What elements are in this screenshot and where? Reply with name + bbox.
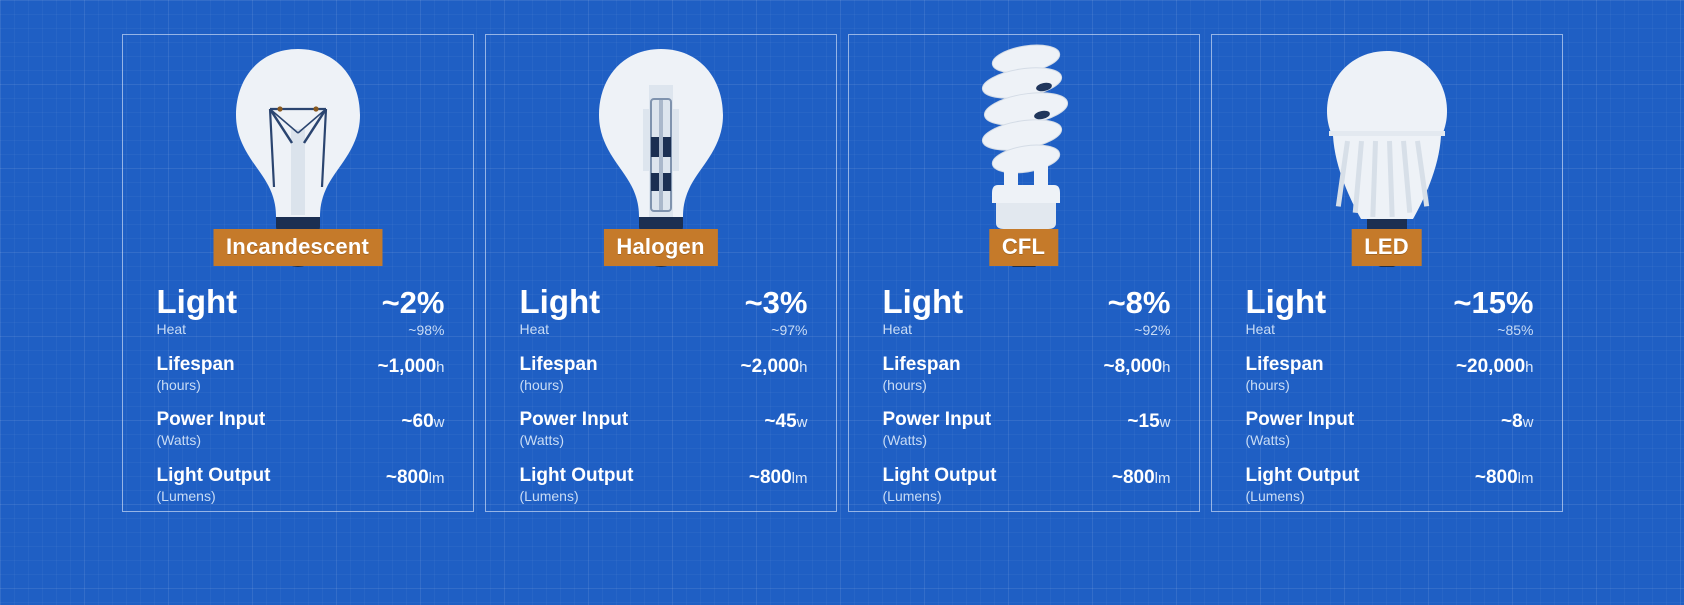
spec-row-power: Power Input (Watts) ~15w: [883, 410, 1171, 450]
spec-label-output: Light Output: [883, 466, 997, 485]
spec-row-power: Power Input (Watts) ~45w: [520, 410, 808, 450]
spec-unit-output: lm: [429, 470, 445, 487]
spec-label-lifespan: Lifespan: [520, 355, 598, 374]
spec-row-light-heat: Light Heat ~3% ~97%: [520, 285, 808, 340]
bulb-card-incandescent: Incandescent Light Heat ~2% ~98% Lifespa…: [122, 34, 474, 512]
spec-row-lifespan: Lifespan (hours) ~20,000h: [1246, 355, 1534, 395]
spec-value-output: ~800: [749, 467, 792, 488]
spec-label-light: Light: [520, 285, 601, 318]
spec-label-heat: Heat: [157, 321, 238, 339]
spec-label-output: Light Output: [157, 466, 271, 485]
spec-label-power: Power Input: [1246, 410, 1355, 429]
bulb-type-badge[interactable]: CFL: [989, 229, 1058, 266]
spec-list: Light Heat ~3% ~97% Lifespan (hours) ~2,…: [486, 285, 836, 521]
spec-sublabel-lifespan: (hours): [1246, 377, 1324, 395]
spec-row-output: Light Output (Lumens) ~800lm: [883, 466, 1171, 506]
spec-value-power: ~60: [401, 411, 433, 432]
spec-label-light: Light: [1246, 285, 1327, 318]
spec-sublabel-output: (Lumens): [883, 488, 997, 506]
spec-unit-power: w: [434, 414, 445, 431]
spec-unit-output: lm: [792, 470, 808, 487]
spec-label-output: Light Output: [520, 466, 634, 485]
spec-row-output: Light Output (Lumens) ~800lm: [520, 466, 808, 506]
spec-row-power: Power Input (Watts) ~8w: [1246, 410, 1534, 450]
spec-label-output: Light Output: [1246, 466, 1360, 485]
spec-list: Light Heat ~8% ~92% Lifespan (hours) ~8,…: [849, 285, 1199, 521]
spec-sublabel-power: (Watts): [883, 432, 992, 450]
spec-sublabel-lifespan: (hours): [883, 377, 961, 395]
spec-list: Light Heat ~15% ~85% Lifespan (hours) ~2…: [1212, 285, 1562, 521]
spec-unit-power: w: [797, 414, 808, 431]
spec-row-light-heat: Light Heat ~8% ~92%: [883, 285, 1171, 340]
spec-list: Light Heat ~2% ~98% Lifespan (hours) ~1,…: [123, 285, 473, 521]
spec-label-power: Power Input: [157, 410, 266, 429]
spec-row-output: Light Output (Lumens) ~800lm: [1246, 466, 1534, 506]
bulb-card-led: LED Light Heat ~15% ~85% Lifespan (hours…: [1211, 34, 1563, 512]
spec-unit-output: lm: [1155, 470, 1171, 487]
bulb-card-cfl: CFL Light Heat ~8% ~92% Lifespan (hours): [848, 34, 1200, 512]
spec-label-lifespan: Lifespan: [157, 355, 235, 374]
spec-label-lifespan: Lifespan: [883, 355, 961, 374]
spec-label-light: Light: [883, 285, 964, 318]
bulb-type-badge[interactable]: LED: [1351, 229, 1422, 266]
spec-value-output: ~800: [1112, 467, 1155, 488]
spec-value-heat: ~97%: [745, 322, 808, 340]
spec-row-power: Power Input (Watts) ~60w: [157, 410, 445, 450]
spec-row-lifespan: Lifespan (hours) ~1,000h: [157, 355, 445, 395]
spec-value-lifespan: ~20,000: [1456, 356, 1525, 377]
bulb-type-badge[interactable]: Incandescent: [213, 229, 382, 266]
spec-label-power: Power Input: [520, 410, 629, 429]
spec-sublabel-output: (Lumens): [520, 488, 634, 506]
spec-value-light: ~15%: [1453, 287, 1533, 318]
spec-value-output: ~800: [1475, 467, 1518, 488]
spec-value-heat: ~85%: [1453, 322, 1533, 340]
spec-unit-power: w: [1160, 414, 1171, 431]
spec-value-power: ~15: [1127, 411, 1159, 432]
spec-value-heat: ~98%: [382, 322, 445, 340]
spec-unit-output: lm: [1518, 470, 1534, 487]
spec-label-heat: Heat: [1246, 321, 1327, 339]
spec-sublabel-output: (Lumens): [1246, 488, 1360, 506]
spec-value-power: ~45: [764, 411, 796, 432]
spec-value-power: ~8: [1501, 411, 1523, 432]
spec-label-heat: Heat: [883, 321, 964, 339]
spec-row-light-heat: Light Heat ~15% ~85%: [1246, 285, 1534, 340]
spec-sublabel-power: (Watts): [157, 432, 266, 450]
spec-unit-lifespan: h: [799, 359, 807, 376]
spec-sublabel-output: (Lumens): [157, 488, 271, 506]
bulb-type-badge[interactable]: Halogen: [603, 229, 717, 266]
spec-sublabel-power: (Watts): [520, 432, 629, 450]
spec-row-output: Light Output (Lumens) ~800lm: [157, 466, 445, 506]
bulb-card-halogen: Halogen Light Heat ~3% ~97% Lifespan (ho…: [485, 34, 837, 512]
spec-unit-power: w: [1523, 414, 1534, 431]
spec-value-light: ~3%: [745, 287, 808, 318]
spec-unit-lifespan: h: [436, 359, 444, 376]
spec-value-lifespan: ~8,000: [1104, 356, 1163, 377]
spec-unit-lifespan: h: [1525, 359, 1533, 376]
spec-row-light-heat: Light Heat ~2% ~98%: [157, 285, 445, 340]
spec-value-heat: ~92%: [1108, 322, 1171, 340]
spec-label-lifespan: Lifespan: [1246, 355, 1324, 374]
spec-value-light: ~2%: [382, 287, 445, 318]
spec-row-lifespan: Lifespan (hours) ~2,000h: [520, 355, 808, 395]
spec-label-power: Power Input: [883, 410, 992, 429]
spec-row-lifespan: Lifespan (hours) ~8,000h: [883, 355, 1171, 395]
spec-sublabel-lifespan: (hours): [520, 377, 598, 395]
spec-label-light: Light: [157, 285, 238, 318]
spec-value-lifespan: ~1,000: [378, 356, 437, 377]
spec-unit-lifespan: h: [1162, 359, 1170, 376]
spec-sublabel-lifespan: (hours): [157, 377, 235, 395]
spec-label-heat: Heat: [520, 321, 601, 339]
spec-value-lifespan: ~2,000: [741, 356, 800, 377]
spec-value-light: ~8%: [1108, 287, 1171, 318]
spec-value-output: ~800: [386, 467, 429, 488]
comparison-board: Incandescent Light Heat ~2% ~98% Lifespa…: [0, 0, 1684, 605]
spec-sublabel-power: (Watts): [1246, 432, 1355, 450]
